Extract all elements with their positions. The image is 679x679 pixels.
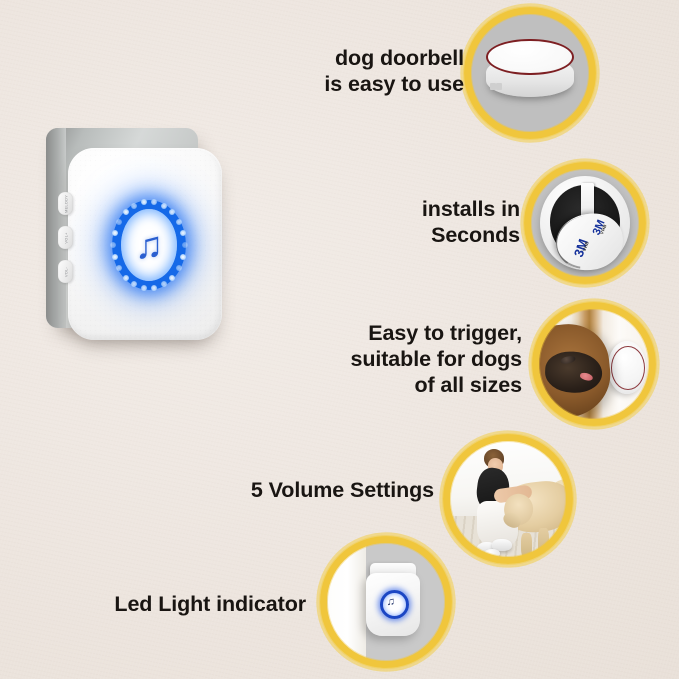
volume-down-button[interactable]: VOL-	[58, 260, 73, 283]
photo-clip: 3M VHB 3M VHB	[529, 167, 641, 279]
melody-button[interactable]: MELODY	[58, 192, 73, 215]
transmitter-notch	[490, 83, 496, 90]
feature-label-easy-trigger: Easy to trigger, suitable for dogs of al…	[300, 320, 522, 398]
infographic-canvas: MELODY VOL+ VOL- ♫ dog doorbell is easy …	[0, 0, 679, 679]
volume-up-button-label: VOL+	[63, 232, 68, 243]
photo-clip	[469, 12, 591, 134]
music-note-icon: ♫	[387, 597, 395, 608]
dog-nose	[560, 355, 576, 365]
main-product-image: MELODY VOL+ VOL- ♫	[40, 120, 236, 346]
feature-photo-dog-doorbell	[464, 7, 596, 139]
feature-label-led-indicator: Led Light indicator	[62, 591, 306, 617]
transmitter-inner-face	[490, 42, 569, 73]
feature-label-volume-settings: 5 Volume Settings	[182, 477, 434, 503]
floor-doorbell-button	[484, 549, 500, 557]
photo-clip	[448, 439, 568, 559]
melody-button-label: MELODY	[63, 194, 68, 212]
photo-clip	[537, 307, 651, 421]
product-front-face: ♫	[68, 148, 222, 340]
dog-tongue	[580, 372, 594, 381]
transmitter-notch	[496, 83, 502, 90]
photo-clip: ♫	[325, 541, 447, 663]
led-ring-indicator: ♫	[112, 200, 186, 290]
dog-muzzle	[545, 351, 603, 394]
feature-photo-easy-trigger	[532, 302, 656, 426]
volume-up-button[interactable]: VOL+	[58, 226, 73, 249]
volume-down-button-label: VOL-	[63, 266, 68, 276]
door-mounted-button	[608, 341, 647, 393]
feature-label-dog-doorbell: dog doorbell is easy to use	[286, 45, 464, 97]
feature-label-installs-seconds: installs in Seconds	[370, 196, 520, 248]
dog-leg	[538, 528, 549, 559]
wall-edge	[325, 541, 366, 663]
music-note-icon: ♫	[135, 227, 164, 265]
feature-photo-led-indicator: ♫	[320, 536, 452, 668]
feature-photo-volume-settings	[443, 434, 573, 564]
feature-photo-installs-seconds: 3M VHB 3M VHB	[524, 162, 646, 284]
dog-leg	[521, 533, 532, 559]
